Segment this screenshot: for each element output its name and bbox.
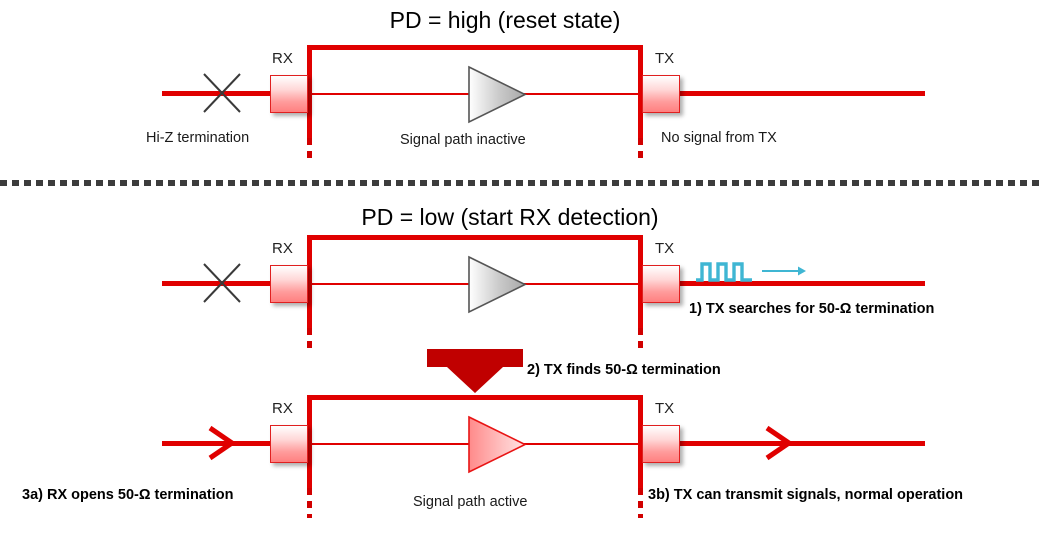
x-marker-icon xyxy=(200,70,244,116)
port-tx-block-bottom xyxy=(642,425,680,463)
step-3a-label: 3a) RX opens 50-Ω termination xyxy=(22,487,233,503)
section-divider xyxy=(0,180,1039,186)
chevron-right-icon-left xyxy=(205,424,239,462)
panel-top-title: PD = high (reset state) xyxy=(345,7,665,34)
chevron-right-icon-right xyxy=(762,424,796,462)
chip-boundary-dash-right-top xyxy=(638,138,643,162)
caption-no-signal-from-tx: No signal from TX xyxy=(661,130,777,146)
amplifier-triangle-inactive-icon-mid xyxy=(466,254,528,316)
port-rx-block-top xyxy=(270,75,308,113)
panel-mid-title: PD = low (start RX detection) xyxy=(330,204,690,231)
transmission-line-right-top xyxy=(655,91,925,96)
port-rx-label-bottom: RX xyxy=(272,400,293,417)
chip-boundary-dash-right-bottom xyxy=(638,488,643,518)
amplifier-triangle-inactive-icon-top xyxy=(466,64,528,126)
caption-hi-z-termination: Hi-Z termination xyxy=(146,130,249,146)
port-rx-block-mid xyxy=(270,265,308,303)
port-tx-block-mid xyxy=(642,265,680,303)
pulse-train-icon xyxy=(694,258,806,284)
port-rx-label-mid: RX xyxy=(272,240,293,257)
port-tx-label-top: TX xyxy=(655,50,674,67)
port-tx-block-top xyxy=(642,75,680,113)
chip-boundary-dash-right-mid xyxy=(638,328,643,352)
chip-boundary-dash-left-bottom xyxy=(307,488,312,518)
diagram-canvas: PD = high (reset state) RX TX xyxy=(0,0,1039,544)
block-arrow-down-icon xyxy=(425,345,525,395)
chip-boundary-dash-left-mid xyxy=(307,328,312,352)
step-1-label: 1) TX searches for 50-Ω termination xyxy=(689,301,934,317)
arrow-right-icon xyxy=(762,267,806,276)
step-2-label: 2) TX finds 50-Ω termination xyxy=(527,362,721,378)
step-3b-label: 3b) TX can transmit signals, normal oper… xyxy=(648,487,963,503)
chip-boundary-dash-left-top xyxy=(307,138,312,162)
port-rx-block-bottom xyxy=(270,425,308,463)
amplifier-triangle-active-icon xyxy=(466,414,528,476)
x-marker-icon-mid xyxy=(200,260,244,306)
port-tx-label-bottom: TX xyxy=(655,400,674,417)
port-tx-label-mid: TX xyxy=(655,240,674,257)
caption-signal-path-inactive: Signal path inactive xyxy=(400,132,526,148)
caption-signal-path-active: Signal path active xyxy=(413,494,527,510)
port-rx-label-top: RX xyxy=(272,50,293,67)
